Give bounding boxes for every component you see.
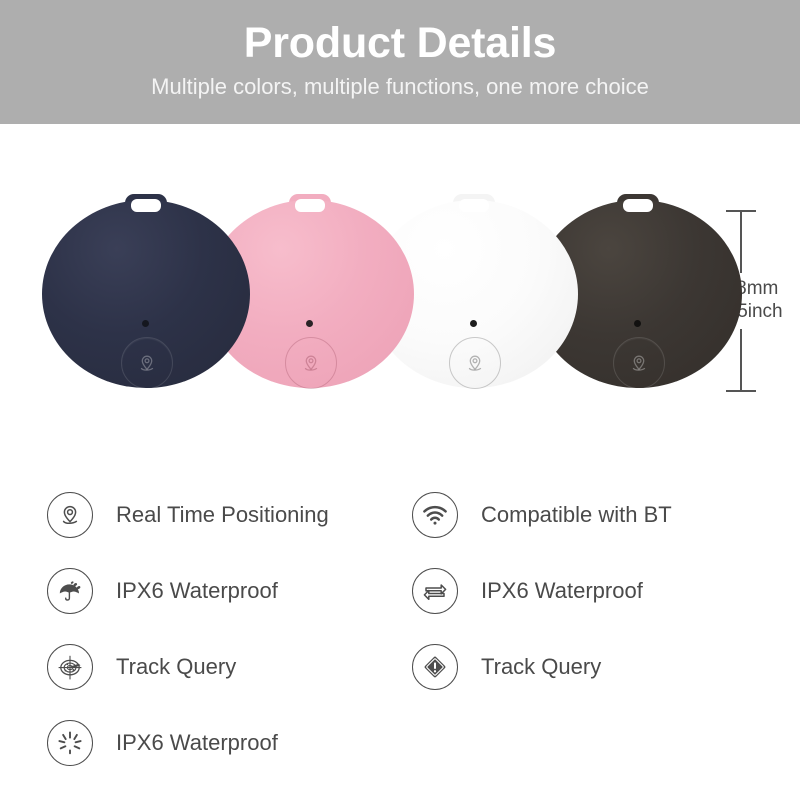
feature-label: Real Time Positioning bbox=[116, 502, 329, 528]
feature-label: Track Query bbox=[116, 654, 236, 680]
location-pin-icon bbox=[121, 337, 173, 389]
dimension-cap-bottom bbox=[726, 390, 756, 392]
page-subtitle: Multiple colors, multiple functions, one… bbox=[0, 73, 800, 101]
keychain-hole bbox=[295, 199, 325, 212]
speaker-hole bbox=[142, 320, 149, 327]
keychain-hole bbox=[623, 199, 653, 212]
feature-ipx6-waterproof-burst[interactable]: IPX6 Waterproof bbox=[47, 719, 278, 767]
feature-list: Real Time Positioning IPX6 Waterproof bbox=[0, 478, 800, 788]
speaker-hole bbox=[306, 320, 313, 327]
feature-label: IPX6 Waterproof bbox=[116, 730, 278, 756]
feature-track-query-alert[interactable]: Track Query bbox=[412, 643, 601, 691]
feature-label: IPX6 Waterproof bbox=[481, 578, 643, 604]
feature-ipx6-waterproof-exchange[interactable]: IPX6 Waterproof bbox=[412, 567, 643, 615]
feature-compatible-with-bt[interactable]: Compatible with BT bbox=[412, 491, 672, 539]
location-pin-icon bbox=[47, 492, 93, 538]
keychain-hole bbox=[131, 199, 161, 212]
feature-label: Track Query bbox=[481, 654, 601, 680]
exchange-arrows-icon bbox=[412, 568, 458, 614]
speaker-hole bbox=[470, 320, 477, 327]
alert-diamond-icon bbox=[412, 644, 458, 690]
radar-target-icon bbox=[47, 644, 93, 690]
keychain-hole bbox=[459, 199, 489, 212]
flash-burst-icon bbox=[47, 720, 93, 766]
umbrella-rain-icon bbox=[47, 568, 93, 614]
feature-label: Compatible with BT bbox=[481, 502, 672, 528]
feature-real-time-positioning[interactable]: Real Time Positioning bbox=[47, 491, 329, 539]
feature-ipx6-waterproof-umbrella[interactable]: IPX6 Waterproof bbox=[47, 567, 278, 615]
tracker-navy[interactable] bbox=[42, 180, 250, 388]
location-pin-icon bbox=[613, 337, 665, 389]
feature-track-query-radar[interactable]: Track Query bbox=[47, 643, 236, 691]
location-pin-icon bbox=[285, 337, 337, 389]
product-color-lineup bbox=[0, 180, 800, 410]
wifi-signal-icon bbox=[412, 492, 458, 538]
page-title: Product Details bbox=[0, 18, 800, 68]
header-banner: Product Details Multiple colors, multipl… bbox=[0, 0, 800, 124]
location-pin-icon bbox=[449, 337, 501, 389]
feature-label: IPX6 Waterproof bbox=[116, 578, 278, 604]
speaker-hole bbox=[634, 320, 641, 327]
